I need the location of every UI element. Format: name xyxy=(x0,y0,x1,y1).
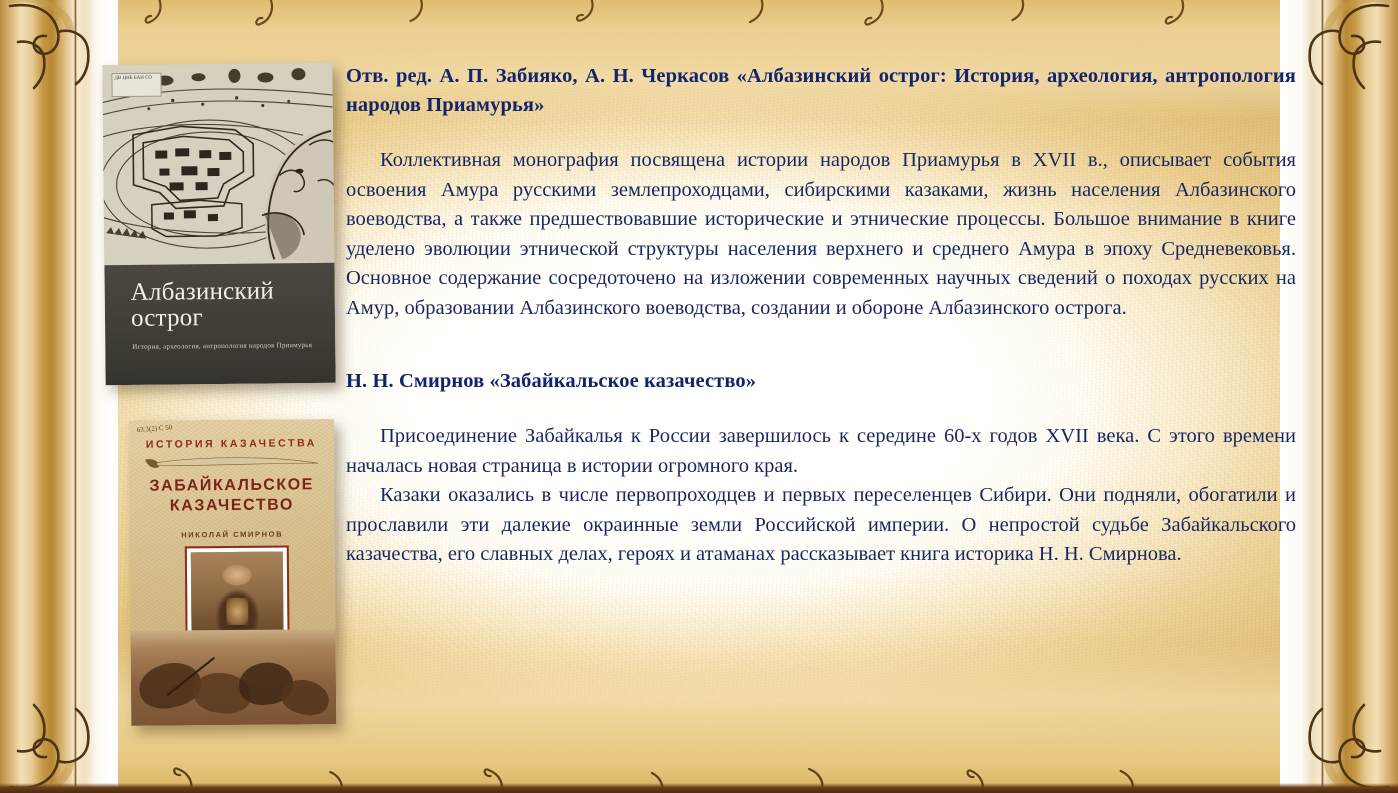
book-1-cover-title: Албазинский острог xyxy=(131,278,322,331)
slide-content: ДВ ЦНБ БАН СО Албазинский острог История… xyxy=(0,0,1398,793)
book-2-heading: Н. Н. Смирнов «Забайкальское казачество» xyxy=(346,367,1296,396)
book-2-series-label: ИСТОРИЯ КАЗАЧЕСТВА xyxy=(129,437,334,451)
book-2-paragraph-1: Присоединение Забайкалья к России заверш… xyxy=(346,422,1296,481)
text-column: Отв. ред. А. П. Забияко, А. Н. Черкасов … xyxy=(346,62,1296,570)
book-2-paragraph-2: Казаки оказались в числе первопроходцев … xyxy=(346,481,1296,570)
book-1-heading: Отв. ред. А. П. Забияко, А. Н. Черкасов … xyxy=(346,62,1296,120)
book-1-library-stamp: ДВ ЦНБ БАН СО xyxy=(111,73,161,98)
book-2-cover-author: НИКОЛАЙ СМИРНОВ xyxy=(130,529,335,540)
book-1-cover-subtitle: История, археология, антропология народо… xyxy=(132,340,312,352)
sabre-icon xyxy=(141,453,322,473)
spacer-2 xyxy=(346,323,1296,367)
book-2-battle-scene xyxy=(131,629,337,726)
book-1-paragraph-1: Коллективная монография посвящена истори… xyxy=(346,146,1296,323)
spacer-3 xyxy=(346,396,1296,422)
book-cover-zabaikalskoe-kazachestvo: 63.3(2) С 50 ИСТОРИЯ КАЗАЧЕСТВА ЗАБАЙКАЛ… xyxy=(129,419,337,726)
spacer-1 xyxy=(346,120,1296,146)
book-2-cover-title: ЗАБАЙКАЛЬСКОЕ КАЗАЧЕСТВО xyxy=(129,475,334,517)
book-cover-albazinsky-ostrog: ДВ ЦНБ БАН СО Албазинский острог История… xyxy=(102,63,335,385)
